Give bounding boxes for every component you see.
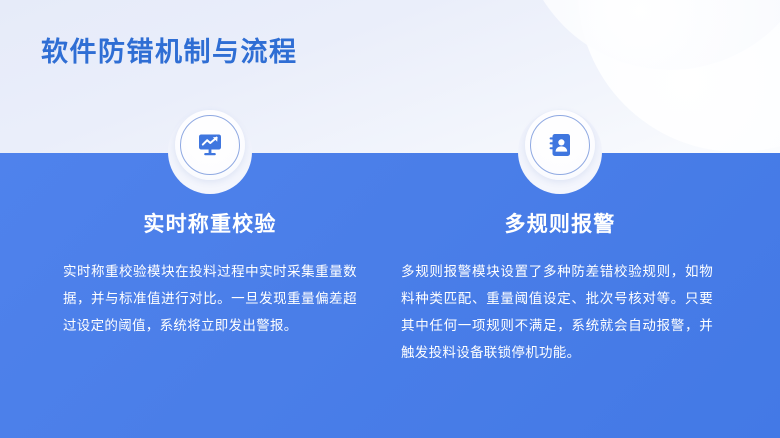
monitor-chart-icon bbox=[196, 131, 224, 159]
card-columns: 实时称重校验 实时称重校验模块在投料过程中实时采集重量数据，并与标准值进行对比。… bbox=[0, 0, 780, 438]
slide-root: 软件防错机制与流程 实时称重校验 实时称重校验模块在投料过程中实时采集重量数据，… bbox=[0, 0, 780, 438]
feature-card-multi-rule-alarm: 多规则报警 多规则报警模块设置了多种防差错校验规则，如物料种类匹配、重量阈值设定… bbox=[395, 110, 725, 366]
card-title-left: 实时称重校验 bbox=[45, 208, 375, 238]
contact-book-icon bbox=[546, 131, 574, 159]
icon-badge-right[interactable] bbox=[525, 110, 595, 180]
card-body-right: 多规则报警模块设置了多种防差错校验规则，如物料种类匹配、重量阈值设定、批次号核对… bbox=[395, 258, 725, 366]
card-title-right: 多规则报警 bbox=[395, 208, 725, 238]
icon-badge-left[interactable] bbox=[175, 110, 245, 180]
feature-card-realtime-weighing: 实时称重校验 实时称重校验模块在投料过程中实时采集重量数据，并与标准值进行对比。… bbox=[45, 110, 375, 339]
card-body-left: 实时称重校验模块在投料过程中实时采集重量数据，并与标准值进行对比。一旦发现重量偏… bbox=[45, 258, 375, 339]
